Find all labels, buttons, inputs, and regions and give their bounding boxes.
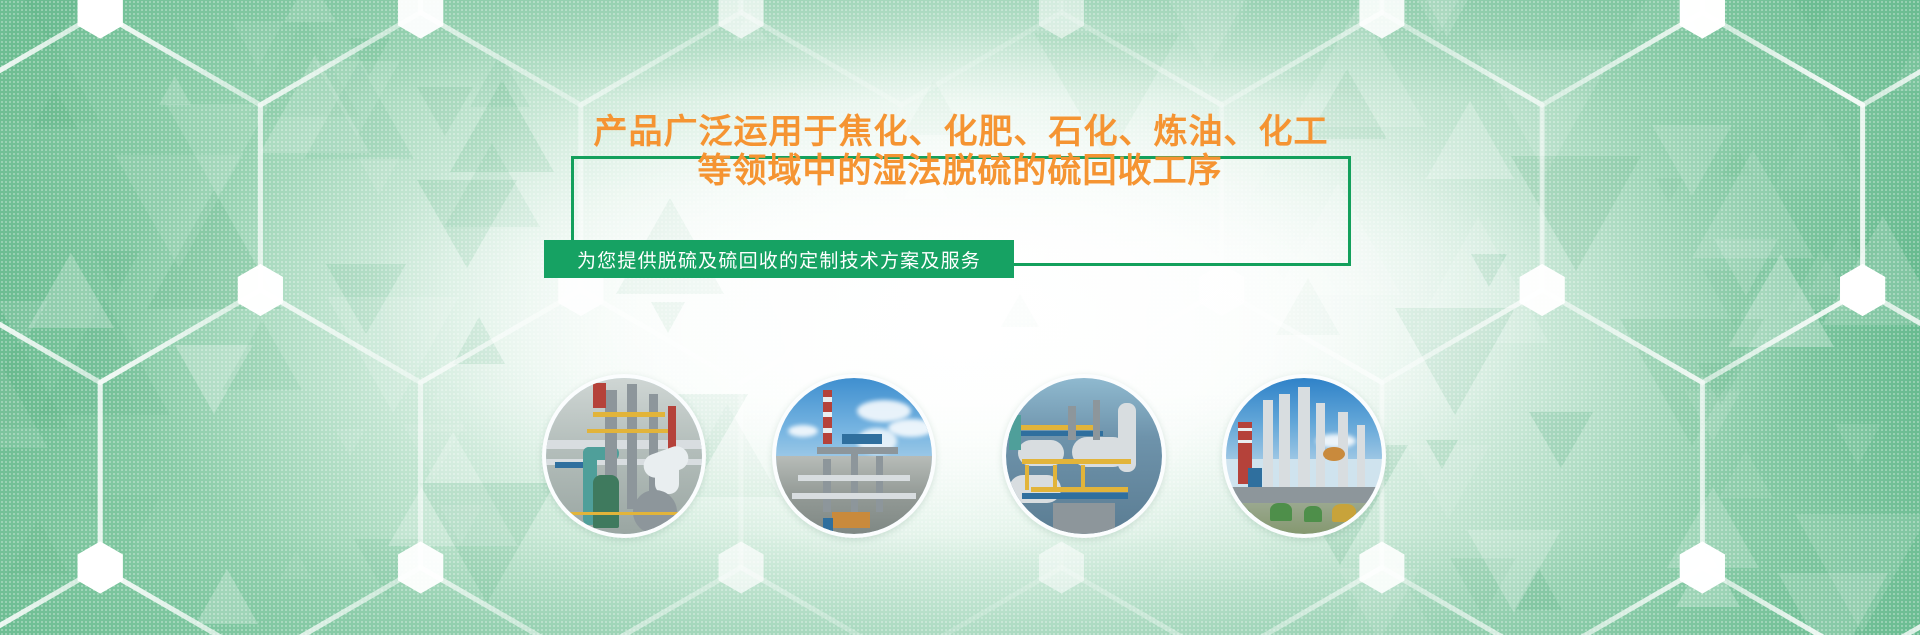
headline-line-1: 产品广泛运用于焦化、化肥、石化、炼油、化工 xyxy=(0,113,1920,152)
subtitle-badge: 为您提供脱硫及硫回收的定制技术方案及服务 xyxy=(544,240,1014,278)
photo-coking-plant-chimney[interactable] xyxy=(772,374,936,538)
headline: 产品广泛运用于焦化、化肥、石化、炼油、化工 等领域中的湿法脱硫的硫回收工序 xyxy=(0,113,1920,191)
photo-gallery xyxy=(0,0,1920,635)
photo-desulfurization-plant-piping[interactable] xyxy=(542,374,706,538)
photo-refinery-towers[interactable] xyxy=(1222,374,1386,538)
photo-sulfur-recovery-vessels[interactable] xyxy=(1002,374,1166,538)
headline-line-2: 等领域中的湿法脱硫的硫回收工序 xyxy=(0,152,1920,191)
subtitle-text: 为您提供脱硫及硫回收的定制技术方案及服务 xyxy=(577,246,981,273)
promo-banner: 产品广泛运用于焦化、化肥、石化、炼油、化工 等领域中的湿法脱硫的硫回收工序 为您… xyxy=(0,0,1920,635)
